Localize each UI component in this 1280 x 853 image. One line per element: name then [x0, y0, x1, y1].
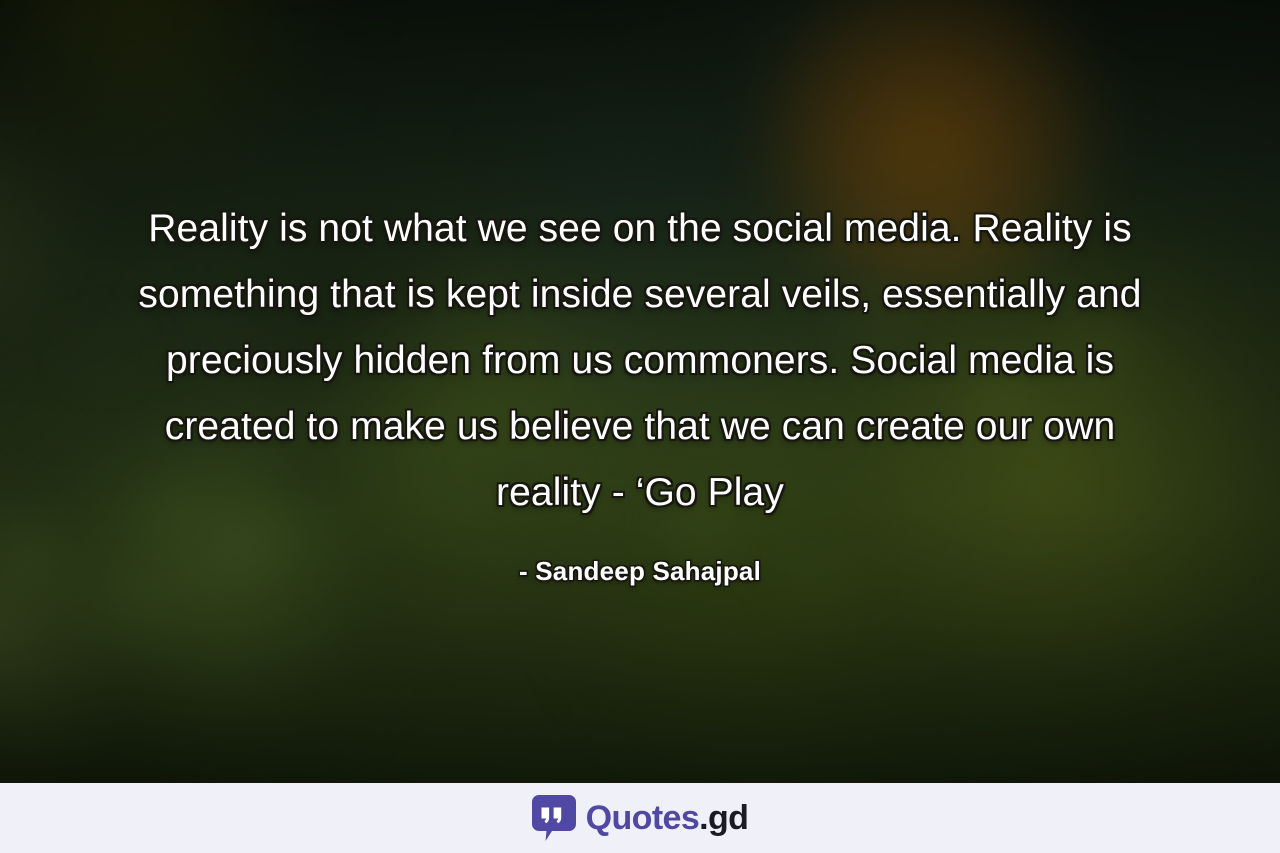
quote-author: - Sandeep Sahajpal: [519, 556, 761, 587]
quote-image-page: Reality is not what we see on the social…: [0, 0, 1280, 853]
footer-bar: Quotes.gd: [0, 783, 1280, 853]
brand-name: Quotes: [586, 799, 700, 837]
quote-text: Reality is not what we see on the social…: [110, 196, 1170, 526]
brand-logo-link[interactable]: Quotes.gd: [532, 795, 749, 841]
brand-wordmark: Quotes.gd: [586, 801, 749, 835]
quote-overlay: Reality is not what we see on the social…: [0, 0, 1280, 783]
quote-bubble-icon: [532, 795, 576, 841]
brand-tld: .gd: [699, 799, 748, 837]
